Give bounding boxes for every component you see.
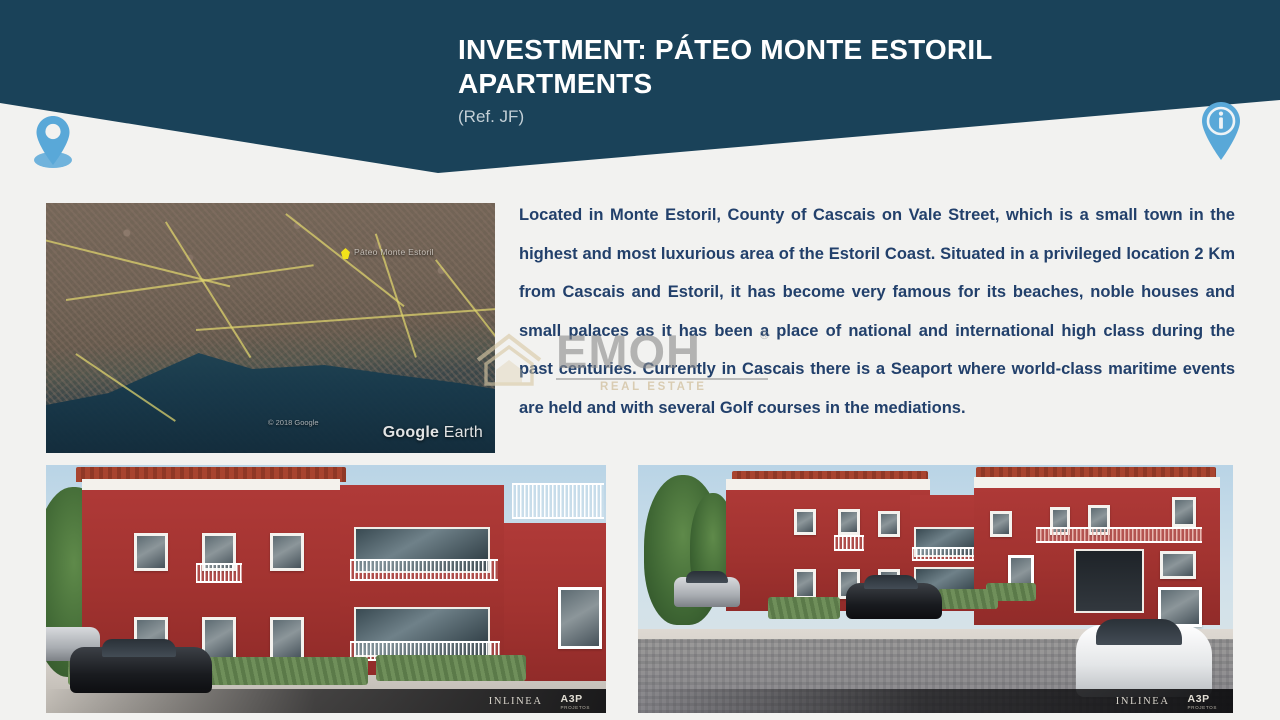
credit-studio: INLINEA [489,696,543,707]
balcony-railing [1036,527,1202,543]
credit-partner-name: A3P [561,693,583,705]
balcony-railing [350,559,498,581]
balcony-railing [834,535,864,551]
page-reference: (Ref. JF) [458,107,1178,127]
window [1172,497,1196,527]
page-title: INVESTMENT: PÁTEO MONTE ESTORIL APARTMEN… [458,33,1178,101]
hedge-row [376,655,526,681]
location-pin-icon [24,108,82,172]
google-earth-bold: Google [383,424,439,441]
facade-cornice [726,479,930,490]
facade-render-image: INLINEA A3P PROJETOS [46,465,606,713]
entry-door [558,587,602,649]
google-earth-light: Earth [444,424,483,441]
header-text-block: INVESTMENT: PÁTEO MONTE ESTORIL APARTMEN… [458,33,1178,128]
header-banner: INVESTMENT: PÁTEO MONTE ESTORIL APARTMEN… [0,0,1280,180]
google-earth-watermark: Google Earth [383,424,483,442]
window [794,509,816,535]
hedge-row [986,583,1036,601]
window [838,509,860,535]
balcony-railing [512,483,604,519]
description-paragraph: Located in Monte Estoril, County of Casc… [519,196,1235,427]
credit-partner: A3P PROJETOS [561,693,590,710]
map-copyright: © 2018 Google [268,418,319,427]
car-windshield [1096,619,1182,645]
window [990,511,1012,537]
window [794,569,816,599]
credit-partner-sub: PROJETOS [561,705,590,710]
facade-cornice [974,477,1220,488]
window [270,533,304,571]
satellite-map-image: Páteo Monte Estoril © 2018 Google Google… [46,203,495,453]
car-windshield [864,575,918,589]
window [134,533,168,571]
window [878,511,900,537]
courtyard-render-image: INLINEA A3P PROJETOS [638,465,1233,713]
render-credit-bar: INLINEA A3P PROJETOS [46,689,606,713]
credit-studio: INLINEA [1116,696,1170,707]
garage-opening [1074,549,1144,613]
credit-partner-name: A3P [1188,693,1210,705]
hedge-row [768,597,840,619]
facade-cornice [82,479,340,490]
credit-partner: A3P PROJETOS [1188,693,1217,710]
car-windshield [686,571,728,583]
balcony-railing [196,563,242,583]
map-marker-label: Páteo Monte Estoril [354,247,434,257]
credit-partner-sub: PROJETOS [1188,705,1217,710]
render-credit-bar: INLINEA A3P PROJETOS [638,689,1233,713]
window [270,617,304,661]
info-pin-icon [1193,100,1249,162]
balcony-railing [912,547,982,561]
car-windshield [102,639,176,657]
window [1160,551,1196,579]
